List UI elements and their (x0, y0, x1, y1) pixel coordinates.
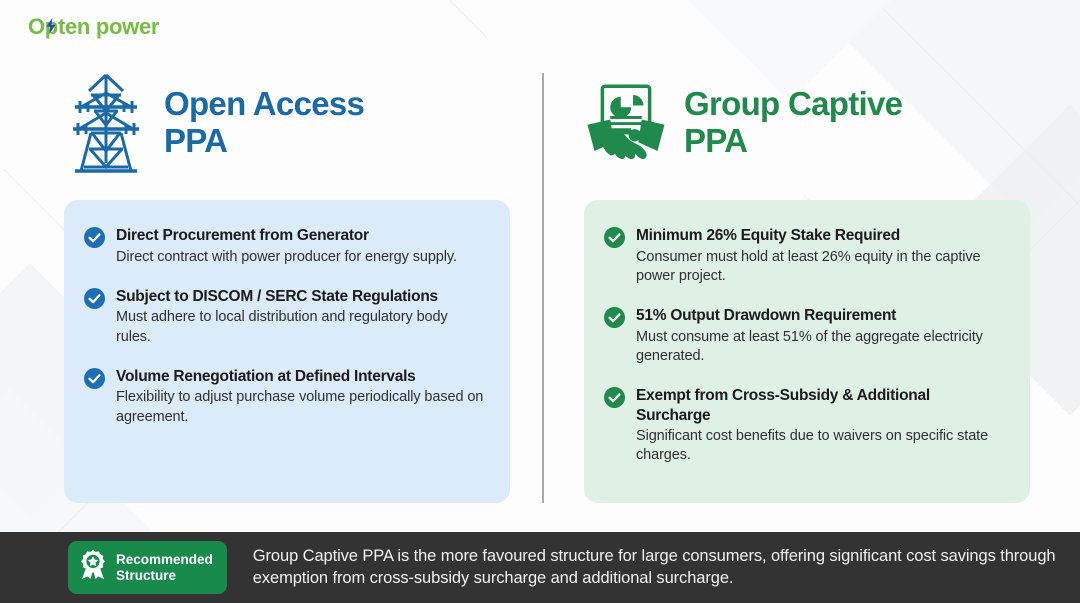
list-item-body: Direct Procurement from Generator Direct… (116, 226, 486, 267)
handshake-document-icon (584, 75, 668, 171)
column-header: Open Access PPA (64, 60, 510, 185)
badge-label-line1: Recommended (116, 552, 213, 568)
list-item-desc: Must adhere to local distribution and re… (116, 308, 486, 347)
column-divider (542, 73, 544, 503)
list-item-title: Minimum 26% Equity Stake Required (636, 226, 1006, 246)
check-circle-icon (84, 288, 105, 347)
column-group-captive-ppa: Group Captive PPA (584, 60, 1030, 185)
list-item-title: Volume Renegotiation at Defined Interval… (116, 367, 486, 387)
list-item: 51% Output Drawdown Requirement Must con… (604, 306, 1006, 366)
list-item-desc: Direct contract with power producer for … (116, 248, 486, 267)
logo-mark: Opten power (28, 16, 159, 39)
list-item-body: Minimum 26% Equity Stake Required Consum… (636, 226, 1006, 286)
list-item-title: 51% Output Drawdown Requirement (636, 306, 1006, 326)
column-title: Group Captive PPA (684, 86, 902, 160)
column-header: Group Captive PPA (584, 60, 1030, 185)
list-item-body: 51% Output Drawdown Requirement Must con… (636, 306, 1006, 366)
brand-logo[interactable]: Opten power (28, 16, 159, 39)
check-circle-icon (604, 387, 625, 466)
lightning-bolt-icon (45, 18, 57, 39)
list-item-body: Exempt from Cross-Subsidy & Additional S… (636, 386, 1006, 466)
list-item-desc: Significant cost benefits due to waivers… (636, 427, 1006, 466)
list-item-title: Subject to DISCOM / SERC State Regulatio… (116, 287, 486, 307)
group-captive-ppa-card: Minimum 26% Equity Stake Required Consum… (584, 200, 1030, 503)
list-item-title: Direct Procurement from Generator (116, 226, 486, 246)
footer-bar: Recommended Structure Group Captive PPA … (0, 532, 1080, 603)
list-item-desc: Flexibility to adjust purchase volume pe… (116, 388, 486, 427)
list-item: Volume Renegotiation at Defined Interval… (84, 367, 486, 427)
list-item-title: Exempt from Cross-Subsidy & Additional S… (636, 386, 1006, 425)
list-item: Minimum 26% Equity Stake Required Consum… (604, 226, 1006, 286)
list-item-body: Volume Renegotiation at Defined Interval… (116, 367, 486, 427)
bg-line (373, 0, 487, 37)
check-circle-icon (84, 227, 105, 267)
badge-label-line2: Structure (116, 568, 213, 584)
award-ribbon-icon (79, 550, 107, 585)
recommended-structure-badge: Recommended Structure (68, 541, 227, 594)
check-circle-icon (84, 368, 105, 427)
list-item: Subject to DISCOM / SERC State Regulatio… (84, 287, 486, 347)
column-title: Open Access PPA (164, 86, 364, 160)
badge-label: Recommended Structure (116, 552, 213, 584)
column-title-line1: Group Captive (684, 86, 902, 123)
list-item: Direct Procurement from Generator Direct… (84, 226, 486, 267)
check-circle-icon (604, 227, 625, 286)
footer-message: Group Captive PPA is the more favoured s… (253, 546, 1056, 590)
column-open-access-ppa: Open Access PPA (64, 60, 510, 185)
transmission-tower-icon (64, 71, 148, 175)
list-item-desc: Must consume at least 51% of the aggrega… (636, 328, 1006, 367)
column-title-line2: PPA (684, 123, 902, 160)
check-circle-icon (604, 307, 625, 366)
list-item-body: Subject to DISCOM / SERC State Regulatio… (116, 287, 486, 347)
list-item: Exempt from Cross-Subsidy & Additional S… (604, 386, 1006, 466)
open-access-ppa-card: Direct Procurement from Generator Direct… (64, 200, 510, 503)
column-title-line2: PPA (164, 123, 364, 160)
column-title-line1: Open Access (164, 86, 364, 123)
list-item-desc: Consumer must hold at least 26% equity i… (636, 248, 1006, 287)
